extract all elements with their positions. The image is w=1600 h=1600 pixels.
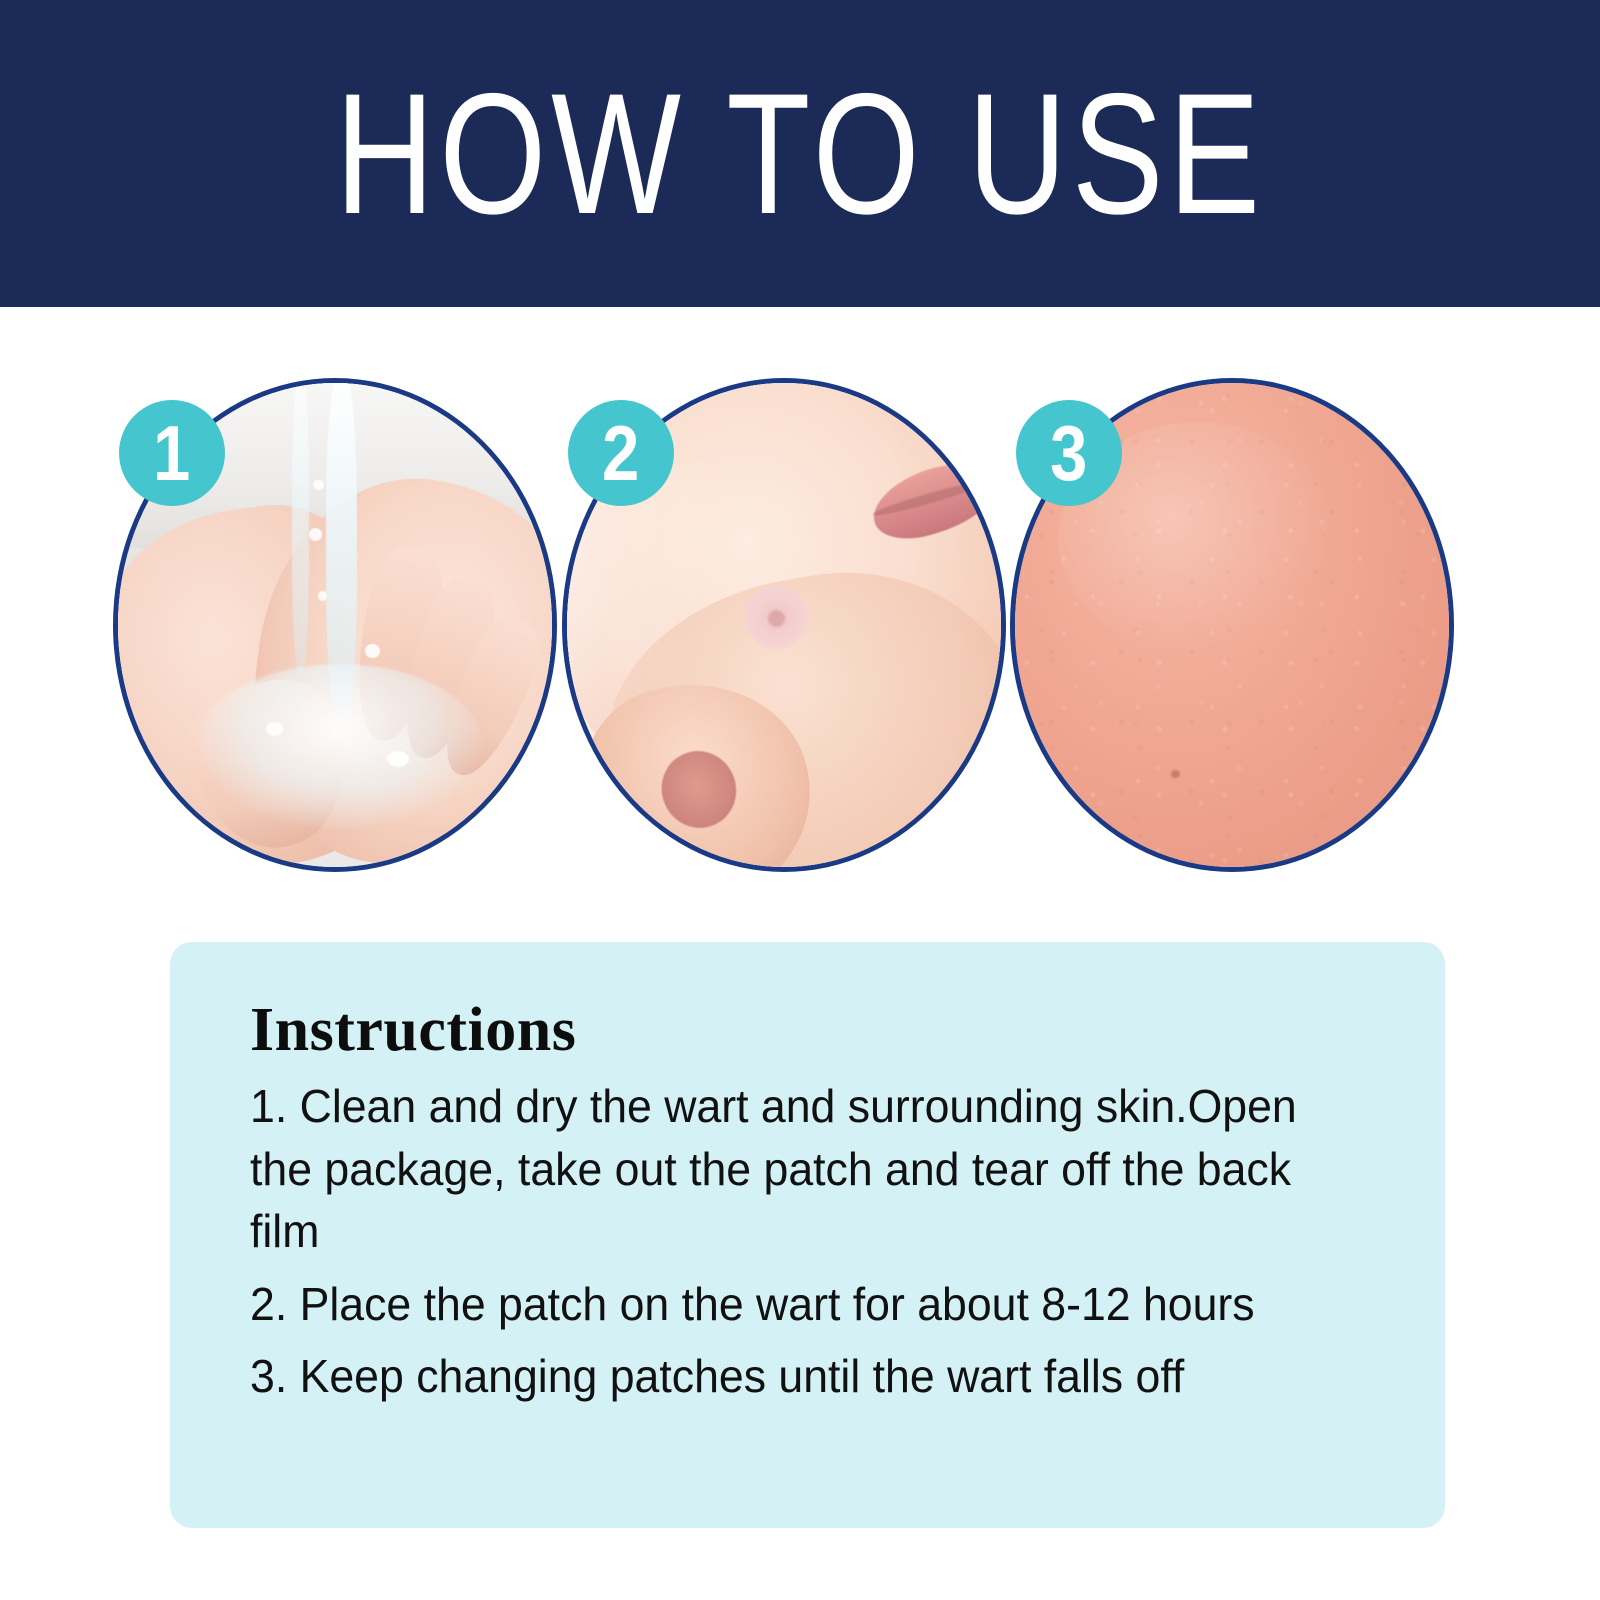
instruction-item-3: 3. Keep changing patches until the wart …	[250, 1345, 1351, 1408]
step-2-number-label: 2	[602, 414, 639, 492]
steps-row: 1 2	[0, 378, 1600, 878]
instructions-card: Instructions 1. Clean and dry the wart a…	[170, 942, 1445, 1528]
water-splash	[196, 664, 482, 829]
water-droplet	[387, 751, 409, 767]
step-2: 2	[562, 378, 1006, 872]
step-3-number-label: 3	[1050, 414, 1087, 492]
instruction-item-2: 2. Place the patch on the wart for about…	[250, 1273, 1351, 1336]
step-1: 1	[113, 378, 557, 872]
step-3-number-badge: 3	[1016, 400, 1122, 506]
header-banner: HOW TO USE	[0, 0, 1600, 307]
instructions-list: 1. Clean and dry the wart and surroundin…	[250, 1075, 1385, 1408]
step-2-number-badge: 2	[568, 400, 674, 506]
water-droplet	[313, 480, 323, 491]
water-stream-secondary	[292, 383, 309, 673]
step-1-number-badge: 1	[119, 400, 225, 506]
water-droplet	[365, 644, 380, 658]
instructions-title: Instructions	[250, 998, 1385, 1063]
water-droplet	[318, 591, 328, 601]
page-title: HOW TO USE	[160, 0, 1440, 307]
step-1-number-label: 1	[153, 414, 190, 492]
instruction-item-1: 1. Clean and dry the wart and surroundin…	[250, 1075, 1351, 1263]
wart-spot	[768, 610, 785, 626]
water-droplet	[266, 722, 283, 737]
step-3: 3	[1010, 378, 1454, 872]
water-droplet	[309, 528, 322, 541]
